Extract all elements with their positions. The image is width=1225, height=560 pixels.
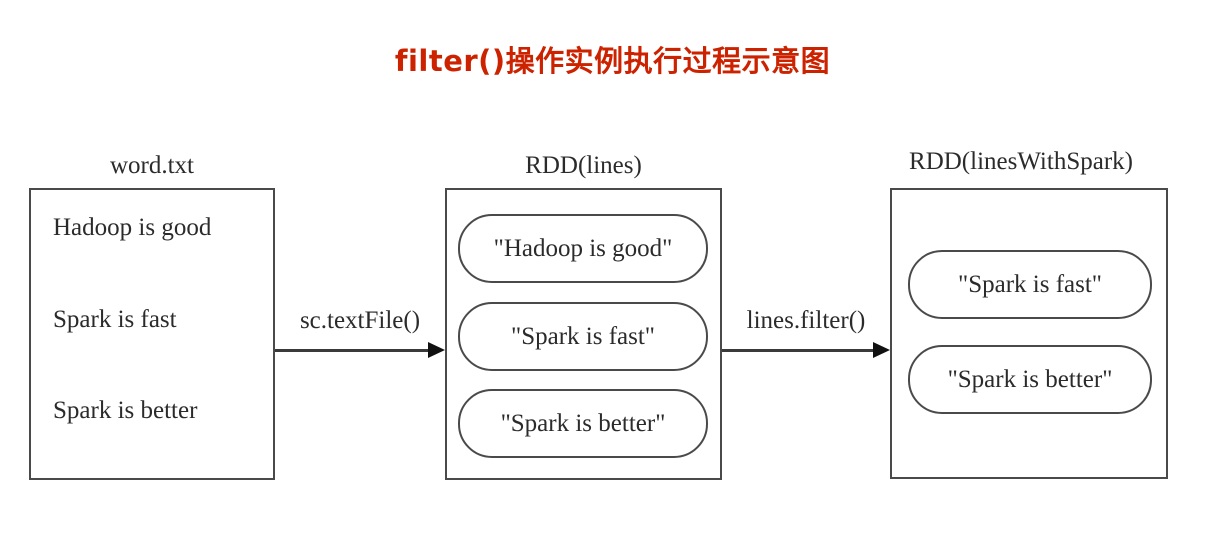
arrow-shaft	[275, 349, 430, 352]
rdd-lines-caption: RDD(lines)	[445, 152, 722, 180]
rdd-filtered-element: "Spark is better"	[908, 345, 1152, 414]
rdd-lines-element-label: "Spark is fast"	[511, 323, 655, 351]
arrow-label-sc-textfile: sc.textFile()	[275, 307, 445, 335]
diagram-canvas: word.txt Hadoop is good Spark is fast Sp…	[0, 0, 1225, 560]
source-file-caption: word.txt	[29, 152, 275, 180]
arrow-label-lines-filter: lines.filter()	[722, 307, 890, 335]
arrow-shaft	[722, 349, 875, 352]
rdd-filtered-element: "Spark is fast"	[908, 250, 1152, 319]
rdd-lines-element: "Spark is fast"	[458, 302, 708, 371]
rdd-filtered-element-label: "Spark is fast"	[958, 271, 1102, 299]
rdd-filtered-box	[890, 188, 1168, 479]
rdd-lines-element-label: "Hadoop is good"	[494, 235, 673, 263]
source-file-line: Spark is fast	[53, 306, 177, 334]
rdd-filtered-caption: RDD(linesWithSpark)	[874, 148, 1168, 176]
rdd-lines-element-label: "Spark is better"	[501, 410, 666, 438]
arrow-rdd-lines-to-rdd-filtered	[722, 341, 890, 361]
rdd-lines-element: "Hadoop is good"	[458, 214, 708, 283]
arrow-head-icon	[428, 342, 445, 358]
source-file-line: Spark is better	[53, 397, 197, 425]
rdd-filtered-element-label: "Spark is better"	[948, 366, 1113, 394]
arrow-head-icon	[873, 342, 890, 358]
source-file-line: Hadoop is good	[53, 214, 211, 242]
arrow-source-to-rdd-lines	[275, 341, 445, 361]
rdd-lines-element: "Spark is better"	[458, 389, 708, 458]
